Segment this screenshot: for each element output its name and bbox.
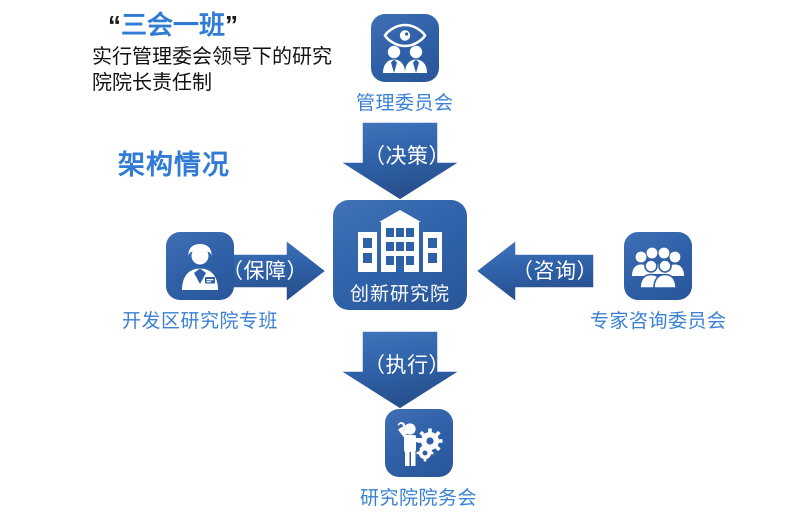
org-structure-diagram: “三会一班” 实行管理委会领导下的研究院院长责任制 架构情况 （决策）: [0, 0, 799, 514]
section-label: 架构情况: [118, 143, 230, 182]
page-title: “三会一班”: [108, 8, 367, 42]
node-label-institute-affairs-meeting: 研究院院务会: [360, 483, 477, 510]
node-management-committee[interactable]: 管理委员会: [356, 14, 454, 115]
node-label-development-zone-team: 开发区研究院专班: [122, 306, 278, 333]
center-node-innovation-institute[interactable]: 创新研究院: [333, 200, 467, 310]
node-label-expert-advisory-committee: 专家咨询委员会: [590, 306, 727, 333]
node-development-zone-team[interactable]: 开发区研究院专班: [122, 232, 278, 333]
node-tile: [371, 14, 439, 82]
arrow-consult-left: （咨询）: [476, 240, 594, 302]
arrow-label-execution: （执行）: [364, 349, 450, 379]
node-tile: [624, 232, 692, 300]
quote-close: ”: [225, 10, 238, 40]
arrow-label-decision: （决策）: [364, 140, 450, 170]
title-keyword: 三会一班: [121, 10, 225, 40]
quote-open: “: [108, 10, 121, 40]
supervision-people-icon: [379, 23, 431, 73]
node-label-management-committee: 管理委员会: [356, 88, 454, 115]
building-icon: [357, 210, 443, 277]
staff-badge-icon: [177, 242, 223, 290]
node-expert-advisory-committee[interactable]: 专家咨询委员会: [590, 232, 727, 333]
node-institute-affairs-meeting[interactable]: 研究院院务会: [360, 409, 477, 510]
page-subtitle: 实行管理委会领导下的研究院院长责任制: [92, 44, 350, 96]
person-gears-icon: [395, 419, 443, 467]
center-node-label: 创新研究院: [350, 279, 450, 306]
node-tile: [385, 409, 453, 477]
arrow-label-consult: （咨询）: [512, 255, 598, 285]
heading-block: “三会一班” 实行管理委会领导下的研究院院长责任制: [92, 8, 367, 96]
node-tile: [166, 232, 234, 300]
arrow-execution-down: （执行）: [340, 331, 460, 409]
group-people-icon: [632, 244, 684, 288]
arrow-decision-down: （决策）: [340, 122, 460, 200]
